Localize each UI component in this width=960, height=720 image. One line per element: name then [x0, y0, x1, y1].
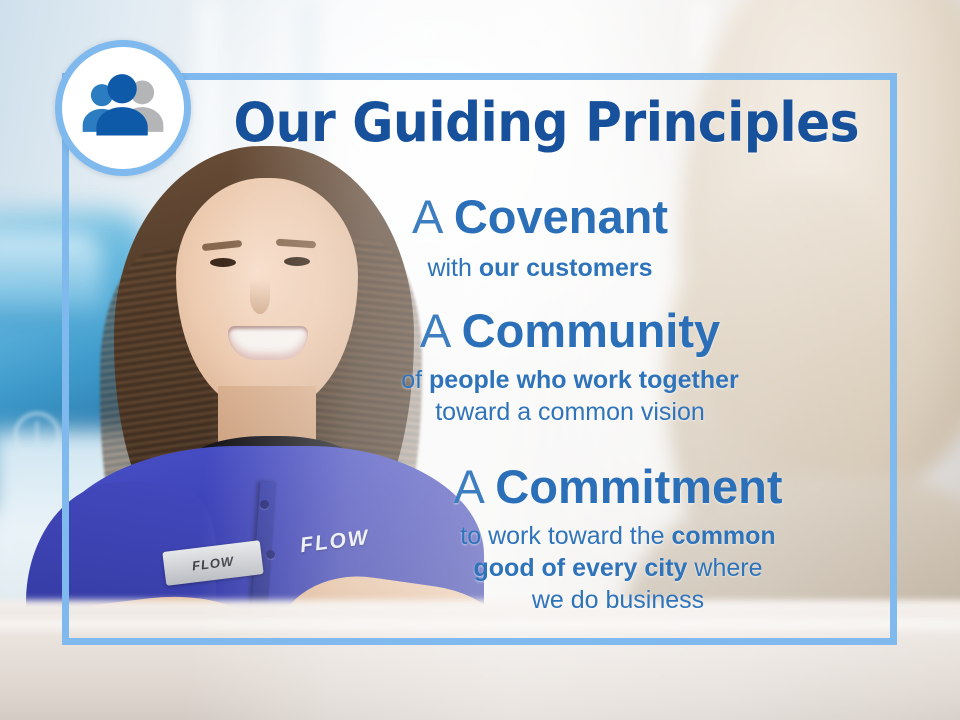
- subtext-plain: of: [401, 366, 429, 394]
- subtext-plain: with: [427, 254, 478, 282]
- principle-subtext-line: good of every city where: [278, 552, 958, 584]
- principle-keyword: Community: [462, 304, 721, 357]
- employee-name-badge-text: FLOW: [191, 553, 235, 573]
- employee-polo-button: [260, 500, 269, 509]
- principle-article: A: [453, 460, 495, 513]
- principle-subtext-line: we do business: [278, 584, 958, 616]
- subtext-emphasis: common: [672, 522, 776, 550]
- principle-heading: A Covenant: [200, 192, 880, 242]
- principle-subtext-line: to work toward the common: [278, 520, 958, 552]
- principle-subtext-line: with our customers: [200, 252, 880, 284]
- principle-heading: A Community: [230, 306, 910, 356]
- employee-polo-button: [266, 550, 275, 559]
- principle-subtext: of people who work togethertoward a comm…: [230, 364, 910, 428]
- subtext-emphasis: good of every city: [474, 554, 688, 582]
- subtext-plain: toward a common vision: [435, 398, 705, 426]
- subtext-plain: to work toward the: [460, 522, 671, 550]
- principle-keyword: Commitment: [495, 460, 782, 513]
- principle-heading: A Commitment: [278, 462, 958, 512]
- principle-subtext: to work toward the commongood of every c…: [278, 520, 958, 616]
- group-of-people-icon: [79, 71, 167, 145]
- subtext-plain: where: [687, 554, 762, 582]
- subtext-emphasis: our customers: [479, 254, 653, 282]
- counter-edge-highlight: [0, 620, 960, 634]
- subtext-emphasis: people who work together: [429, 366, 739, 394]
- principle-subtext-line: of people who work together: [230, 364, 910, 396]
- group-badge: [55, 40, 191, 176]
- principle-keyword: Covenant: [454, 190, 668, 243]
- page-title: Our Guiding Principles: [233, 96, 856, 150]
- principle-community: A Community of people who work togethert…: [230, 306, 910, 428]
- subtext-plain: we do business: [532, 586, 704, 614]
- counter-surface: [0, 600, 960, 720]
- banner-canvas: FLOW FLOW: [0, 0, 960, 720]
- principle-commitment: A Commitment to work toward the commongo…: [278, 462, 958, 616]
- principle-article: A: [412, 190, 454, 243]
- principle-covenant: A Covenant with our customers: [200, 192, 880, 284]
- principle-article: A: [420, 304, 462, 357]
- principle-subtext-line: toward a common vision: [230, 396, 910, 428]
- principle-subtext: with our customers: [200, 252, 880, 284]
